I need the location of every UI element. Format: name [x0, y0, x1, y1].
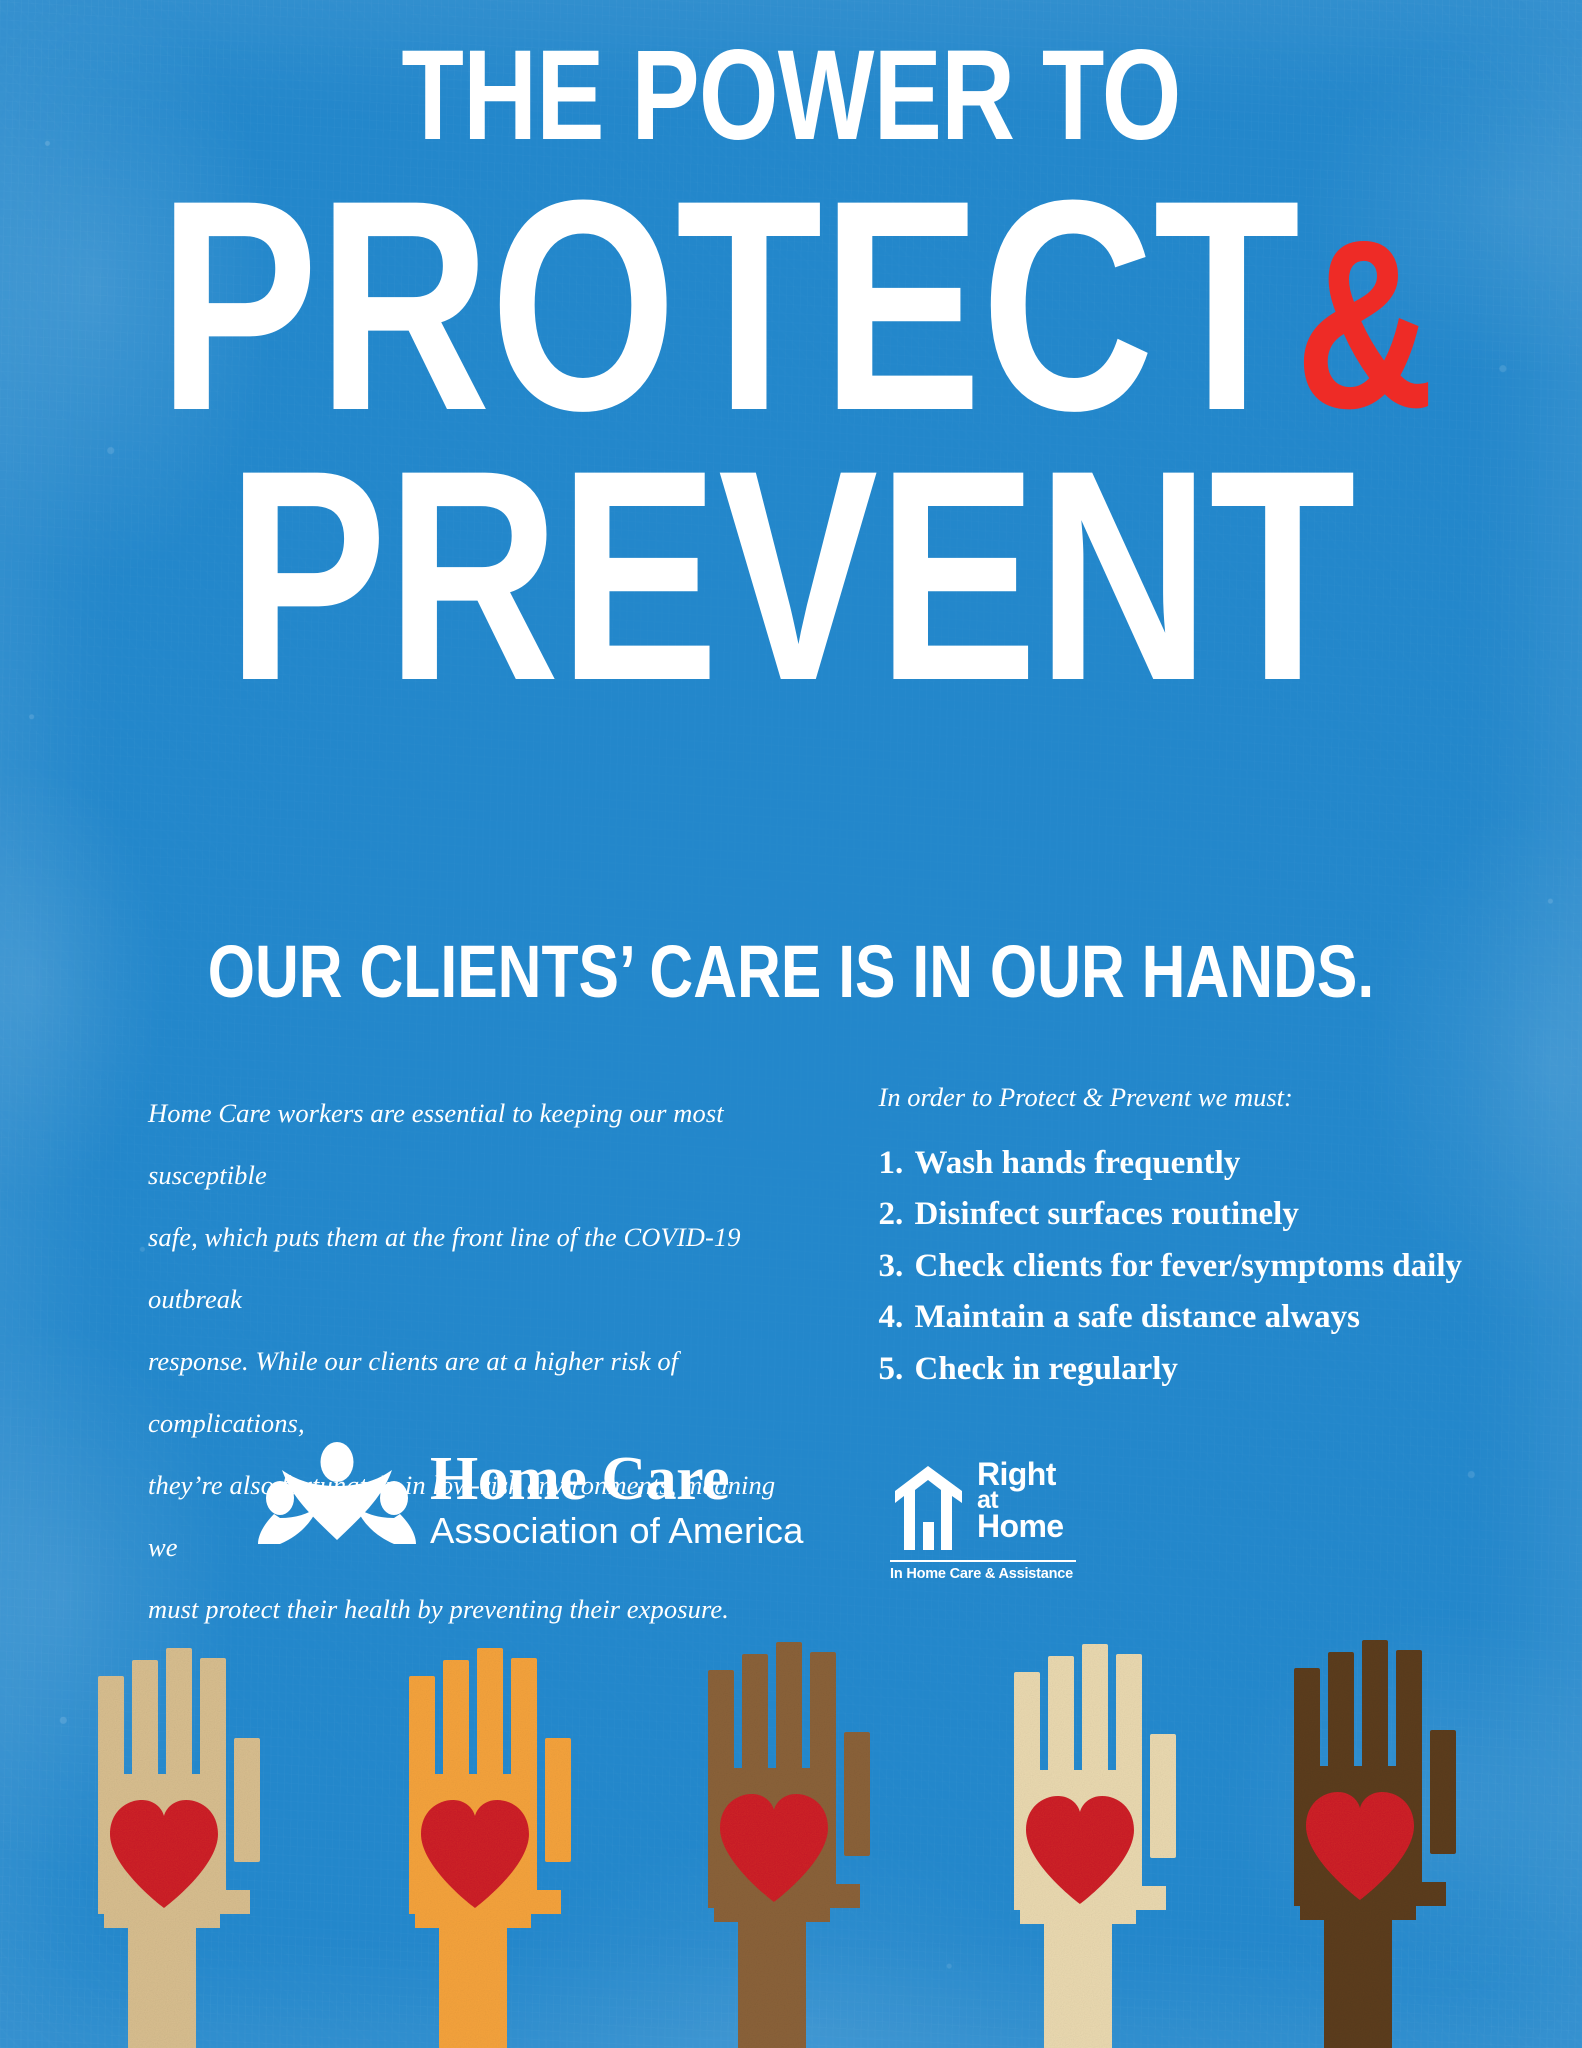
headline-line-2: PROTECT& — [158, 182, 1424, 428]
hand-5 — [1294, 1640, 1456, 2048]
checklist-item: 1.Wash hands frequently — [879, 1138, 1462, 1189]
checklist-item-number: 1. — [879, 1138, 915, 1189]
hand-1 — [98, 1648, 260, 2048]
house-outline-icon — [890, 1460, 968, 1557]
intro-line: Home Care workers are essential to keepi… — [148, 1082, 781, 1206]
checklist-lede: In order to Protect & Prevent we must: — [879, 1082, 1462, 1114]
checklist-item-label: Wash hands frequently — [915, 1145, 1241, 1181]
checklist-item: 5.Check in regularly — [879, 1344, 1462, 1395]
right-at-home-wordmark: Right at Home — [977, 1460, 1064, 1542]
checklist-item-label: Maintain a safe distance always — [915, 1299, 1361, 1335]
hcaoa-subname: Association of America — [430, 1513, 804, 1550]
right-at-home-logo: Right at Home — [890, 1460, 1064, 1557]
checklist-item-number: 5. — [879, 1344, 915, 1395]
checklist-item-label: Disinfect surfaces routinely — [915, 1196, 1299, 1232]
logo-row: Home Care Association of America Right a… — [0, 1432, 1582, 1572]
rah-divider — [890, 1560, 1076, 1562]
checklist-item: 4.Maintain a safe distance always — [879, 1292, 1462, 1343]
intro-line: must protect their health by preventing … — [148, 1578, 781, 1640]
checklist-item-number: 3. — [879, 1241, 915, 1292]
checklist-item-number: 2. — [879, 1189, 915, 1240]
rah-tagline: In Home Care & Assistance — [890, 1566, 1073, 1582]
three-people-icon — [258, 1440, 416, 1549]
checklist-item: 3.Check clients for fever/symptoms daily — [879, 1241, 1462, 1292]
checklist-item: 2.Disinfect surfaces routinely — [879, 1189, 1462, 1240]
raised-hands-illustration — [0, 1598, 1582, 2048]
checklist-item-label: Check clients for fever/symptoms daily — [915, 1248, 1462, 1284]
hcaoa-logo: Home Care Association of America — [258, 1440, 804, 1549]
hcaoa-name: Home Care — [430, 1448, 804, 1510]
rah-word-home: Home — [977, 1512, 1064, 1541]
headline-subhead: OUR CLIENTS’ CARE IS IN OUR HANDS. — [142, 942, 1439, 1003]
hand-4 — [1014, 1644, 1176, 2048]
rah-word-right: Right — [977, 1460, 1064, 1489]
headline-line-3: PREVENT — [158, 452, 1424, 698]
intro-line: safe, which puts them at the front line … — [148, 1206, 781, 1330]
checklist-item-number: 4. — [879, 1292, 915, 1343]
hand-2 — [409, 1648, 571, 2048]
hand-3 — [708, 1642, 870, 2048]
headline-line-1: THE POWER TO — [158, 44, 1424, 149]
checklist-item-label: Check in regularly — [915, 1351, 1178, 1387]
hcaoa-wordmark: Home Care Association of America — [430, 1448, 804, 1550]
checklist-list: 1.Wash hands frequently 2.Disinfect surf… — [879, 1138, 1462, 1395]
poster-canvas: THE POWER TO PROTECT& PREVENT OUR CLIENT… — [0, 0, 1582, 2048]
